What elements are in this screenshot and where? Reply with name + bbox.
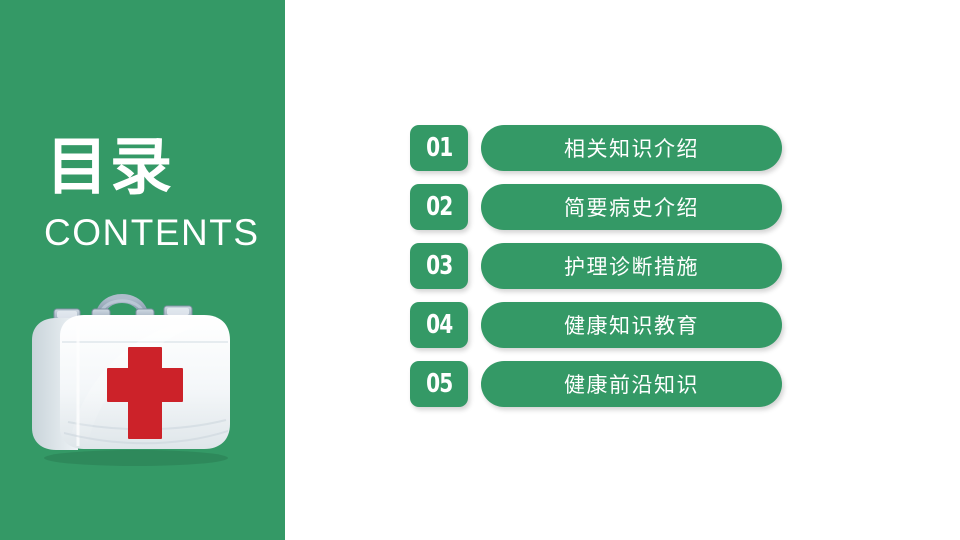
page-title-cn: 目录 [46,137,174,199]
item-label: 健康前沿知识 [564,369,699,399]
page-title-en: CONTENTS [44,214,260,251]
list-item[interactable]: 01 相关知识介绍 [410,125,785,171]
left-green-panel: 目录 CONTENTS [0,0,285,540]
item-number: 03 [426,251,452,281]
item-number-badge[interactable]: 05 [410,361,468,407]
item-number-badge[interactable]: 03 [410,243,468,289]
item-number-badge[interactable]: 01 [410,125,468,171]
item-number: 02 [426,192,452,222]
item-label-pill[interactable]: 健康前沿知识 [481,361,782,407]
item-label: 简要病史介绍 [564,192,699,222]
item-label-pill[interactable]: 相关知识介绍 [481,125,782,171]
list-item[interactable]: 02 简要病史介绍 [410,184,785,230]
item-label-pill[interactable]: 简要病史介绍 [481,184,782,230]
list-item[interactable]: 05 健康前沿知识 [410,361,785,407]
item-number: 04 [426,310,452,340]
list-item[interactable]: 03 护理诊断措施 [410,243,785,289]
item-number: 01 [426,133,452,163]
item-label-pill[interactable]: 健康知识教育 [481,302,782,348]
item-number-badge[interactable]: 04 [410,302,468,348]
item-number: 05 [426,369,452,399]
list-item[interactable]: 04 健康知识教育 [410,302,785,348]
presentation-slide: 目录 CONTENTS [0,0,960,540]
contents-list: 01 相关知识介绍 02 简要病史介绍 03 护理诊断措施 04 [410,125,785,407]
item-label: 相关知识介绍 [564,133,699,163]
first-aid-kit-icon [18,282,246,468]
item-label: 护理诊断措施 [564,251,699,281]
item-number-badge[interactable]: 02 [410,184,468,230]
item-label-pill[interactable]: 护理诊断措施 [481,243,782,289]
item-label: 健康知识教育 [564,310,699,340]
